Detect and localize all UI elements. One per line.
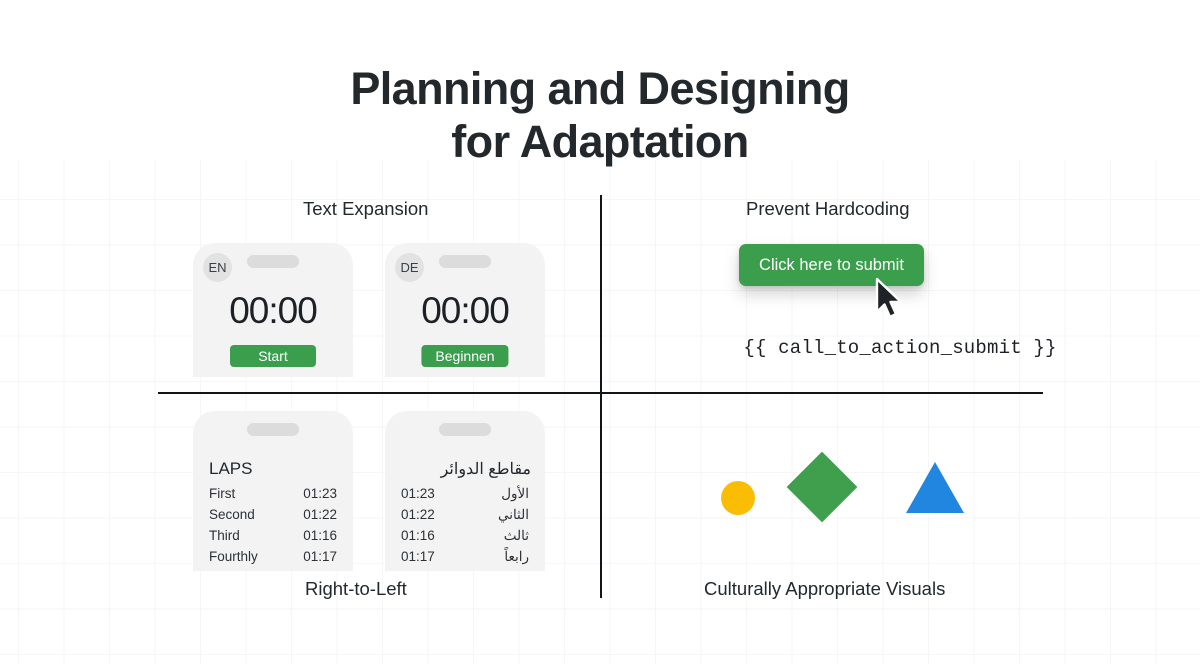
lap-row: Second01:22 <box>209 504 337 525</box>
mouse-pointer-icon <box>872 276 906 322</box>
lap-name: الأول <box>501 483 529 504</box>
watch-card-laps-ltr: LAPS First01:23Second01:22Third01:16Four… <box>193 411 353 571</box>
quadrant-label-text-expansion: Text Expansion <box>303 198 428 220</box>
lap-time: 01:16 <box>303 525 337 546</box>
lap-row: Fourthly01:17 <box>209 546 337 567</box>
timer-value-de: 00:00 <box>385 290 545 332</box>
laps-list-rtl: الأول01:23الثاني01:22ثالث01:16رابعاً01:1… <box>401 483 529 567</box>
lap-row: First01:23 <box>209 483 337 504</box>
timer-value-en: 00:00 <box>193 290 353 332</box>
watch-card-laps-rtl: مقاطع الدوائر الأول01:23الثاني01:22ثالث0… <box>385 411 545 571</box>
language-badge-en: EN <box>203 253 232 282</box>
lap-row: Third01:16 <box>209 525 337 546</box>
lap-row: رابعاً01:17 <box>401 546 529 567</box>
laps-title-ltr: LAPS <box>209 459 252 479</box>
lap-row: الأول01:23 <box>401 483 529 504</box>
laps-title-rtl: مقاطع الدوائر <box>441 459 531 479</box>
laps-list-ltr: First01:23Second01:22Third01:16Fourthly0… <box>209 483 337 567</box>
lap-name: Third <box>209 525 240 546</box>
page-title-line-2: for Adaptation <box>0 115 1200 168</box>
lap-name: Second <box>209 504 255 525</box>
lap-time: 01:17 <box>303 546 337 567</box>
lap-time: 01:23 <box>303 483 337 504</box>
lap-name: First <box>209 483 235 504</box>
lap-name: ثالث <box>504 525 529 546</box>
language-badge-de: DE <box>395 253 424 282</box>
lap-time: 01:23 <box>401 483 435 504</box>
lap-time: 01:17 <box>401 546 435 567</box>
quadrant-label-cultural-visuals: Culturally Appropriate Visuals <box>704 578 945 600</box>
quadrant-label-prevent-hardcoding: Prevent Hardcoding <box>746 198 910 220</box>
watch-notch <box>439 423 491 436</box>
watch-notch <box>439 255 491 268</box>
lap-time: 01:16 <box>401 525 435 546</box>
lap-time: 01:22 <box>401 504 435 525</box>
divider-horizontal <box>158 392 1043 394</box>
page-title-line-1: Planning and Designing <box>0 62 1200 115</box>
shape-circle-icon <box>721 481 755 515</box>
lap-name: الثاني <box>498 504 529 525</box>
lap-row: ثالث01:16 <box>401 525 529 546</box>
divider-vertical <box>600 195 602 598</box>
quadrant-label-right-to-left: Right-to-Left <box>305 578 407 600</box>
lap-time: 01:22 <box>303 504 337 525</box>
shape-diamond-icon <box>787 452 858 523</box>
template-variable-code: {{ call_to_action_submit }} <box>0 337 1200 359</box>
lap-row: الثاني01:22 <box>401 504 529 525</box>
lap-name: رابعاً <box>504 546 529 567</box>
lap-name: Fourthly <box>209 546 258 567</box>
watch-notch <box>247 255 299 268</box>
slide-canvas: Planning and Designing for Adaptation Te… <box>0 0 1200 664</box>
watch-notch <box>247 423 299 436</box>
page-title: Planning and Designing for Adaptation <box>0 62 1200 168</box>
shape-triangle-icon <box>906 462 964 513</box>
